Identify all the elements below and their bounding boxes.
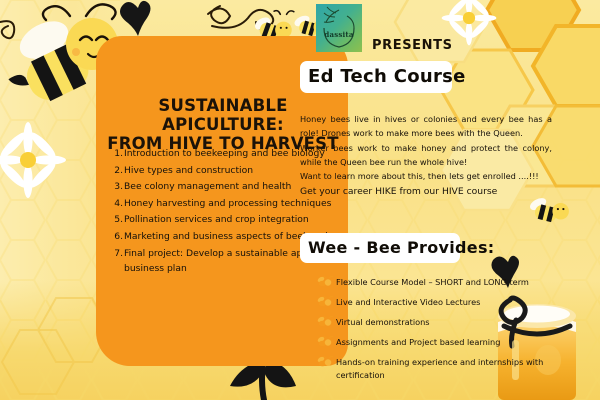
list-item-number: 6. xyxy=(112,229,124,245)
list-item-number: 2. xyxy=(112,163,124,179)
list-item: Hands-on training experience and interns… xyxy=(316,356,554,381)
features-list: Flexible Course Model – SHORT and LONG t… xyxy=(316,276,554,389)
tagline: Get your career HIKE from our HIVE cours… xyxy=(300,185,552,199)
bee-bullet-icon xyxy=(316,356,336,368)
poster-canvas: SUSTAINABLE APICULTURE: FROM HIVE TO HAR… xyxy=(0,0,600,400)
description-paragraph-1: Honey bees live in hives or colonies and… xyxy=(300,112,552,141)
list-item-number: 3. xyxy=(112,179,124,195)
list-item: Flexible Course Model – SHORT and LONG t… xyxy=(316,276,554,289)
description-paragraph-2: Worker bees work to make honey and prote… xyxy=(300,141,552,170)
list-item-number: 1. xyxy=(112,146,124,162)
list-item-number: 7. xyxy=(112,246,124,277)
heart-icon xyxy=(120,1,151,36)
course-title: Ed Tech Course xyxy=(308,66,466,87)
list-item-label: Pollination services and crop integratio… xyxy=(124,212,340,228)
list-item: Live and Interactive Video Lectures xyxy=(316,296,554,309)
feature-label: Virtual demonstrations xyxy=(336,316,554,329)
list-item: Virtual demonstrations xyxy=(316,316,554,329)
swirl-icon xyxy=(208,6,230,23)
bee-bullet-icon xyxy=(316,316,336,328)
bee-bullet-icon xyxy=(316,296,336,308)
feature-label: Flexible Course Model – SHORT and LONG t… xyxy=(336,276,554,289)
bee-bullet-icon xyxy=(316,336,336,348)
feature-label: Live and Interactive Video Lectures xyxy=(336,296,554,309)
presents-label: PRESENTS xyxy=(372,38,453,53)
bee-bullet-icon xyxy=(316,276,336,288)
brand-logo-text: dassita xyxy=(316,30,362,39)
tree-branch-icon xyxy=(316,4,362,52)
description-block: Honey bees live in hives or colonies and… xyxy=(300,112,552,200)
list-item-number: 5. xyxy=(112,212,124,228)
brand-logo: dassita xyxy=(316,4,362,52)
list-item: Assignments and Project based learning xyxy=(316,336,554,349)
feature-label: Hands-on training experience and interns… xyxy=(336,356,554,381)
feature-label: Assignments and Project based learning xyxy=(336,336,554,349)
provides-title: Wee - Bee Provides: xyxy=(308,238,494,257)
description-paragraph-3: Want to learn more about this, then lets… xyxy=(300,169,552,183)
list-item: 5. Pollination services and crop integra… xyxy=(112,212,340,228)
list-item-number: 4. xyxy=(112,196,124,212)
